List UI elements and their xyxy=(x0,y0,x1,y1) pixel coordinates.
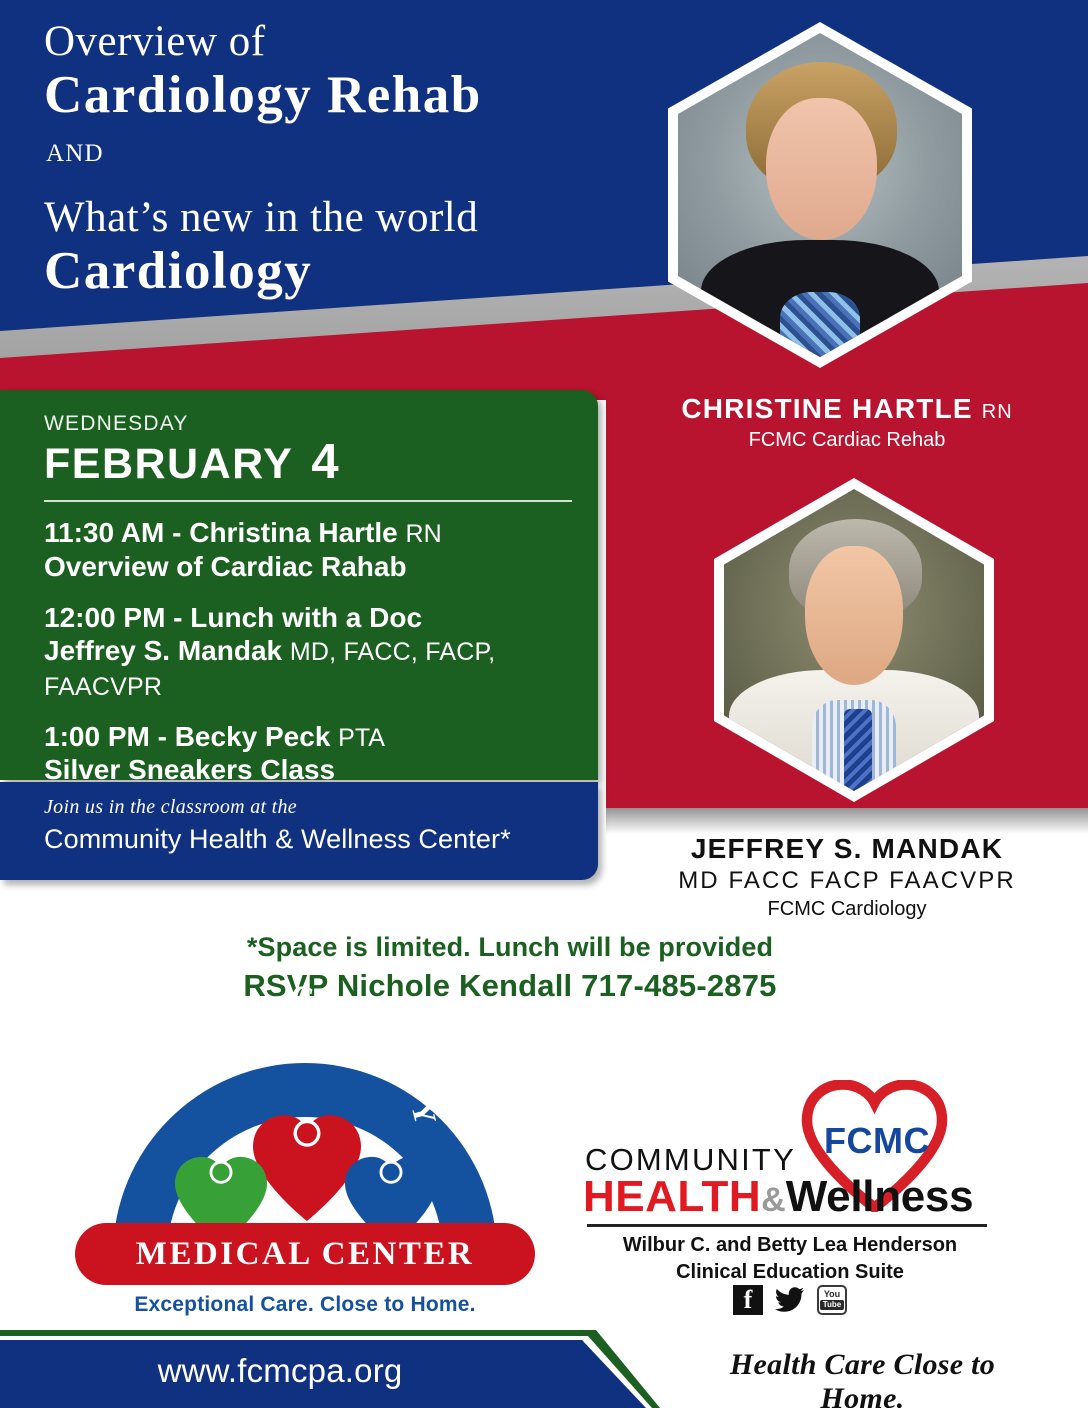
schedule-slot: 12:00 PM - Lunch with a Doc Jeffrey S. M… xyxy=(44,601,572,703)
speaker-suffix-1: RN xyxy=(982,401,1013,423)
red-panel-shadow xyxy=(606,808,1088,834)
fulton-county-medical-center-logo: FULTON COUNTY MEDICAL CENTER Excepti xyxy=(75,1055,535,1305)
schedule-month: FEBRUARY xyxy=(44,440,293,489)
schedule-slot: 1:00 PM - Becky Peck PTA Silver Sneakers… xyxy=(44,720,572,788)
location-venue: Community Health & Wellness Center* xyxy=(44,824,572,855)
title-line-2: Cardiology Rehab xyxy=(44,66,664,125)
title-line-4: Cardiology xyxy=(44,242,664,301)
slot-bold-text: 11:30 AM - Christina Hartle xyxy=(44,517,398,548)
location-box: Join us in the classroom at the Communit… xyxy=(0,782,598,880)
youtube-icon-top-text: You xyxy=(824,1290,840,1299)
arc-letter: N xyxy=(370,1031,412,1071)
logo-pill-bar: MEDICAL CENTER xyxy=(75,1223,535,1285)
speaker-department-2: FCMC Cardiology xyxy=(606,896,1088,923)
schedule-day-of-week: WEDNESDAY xyxy=(44,412,572,436)
chw-subtitle-line-2: Clinical Education Suite xyxy=(575,1259,1005,1286)
speaker-name-1-text: CHRISTINE HARTLE xyxy=(681,393,972,424)
speaker-photo-christine-hartle xyxy=(668,22,972,368)
schedule-day-number: 4 xyxy=(311,434,338,490)
arc-letter xyxy=(263,975,271,1011)
chw-word-row: HEALTH&Wellness xyxy=(583,1172,973,1222)
title-conjunction: AND xyxy=(46,140,664,168)
chw-heart-label: FCMC xyxy=(813,1120,941,1162)
chw-divider-rule xyxy=(587,1224,987,1227)
logo-hearts-group xyxy=(171,1113,441,1233)
arc-letter: U xyxy=(346,1005,386,1047)
social-icons-row: f You Tube xyxy=(575,1285,1005,1315)
rsvp-block: *Space is limited. Lunch will be provide… xyxy=(0,932,1020,1004)
slot-bold-text: Jeffrey S. Mandak xyxy=(44,635,282,666)
schedule-date-line: FEBRUARY 4 xyxy=(44,434,572,490)
speaker-caption-1: CHRISTINE HARTLE RN FCMC Cardiac Rehab xyxy=(606,392,1088,454)
chw-subtitle: Wilbur C. and Betty Lea Henderson Clinic… xyxy=(575,1232,1005,1286)
footer-website-url[interactable]: www.fcmcpa.org xyxy=(0,1352,560,1390)
schedule-slot-topic: Jeffrey S. Mandak MD, FACC, FACP, FAACVP… xyxy=(44,634,572,702)
schedule-slot: 11:30 AM - Christina Hartle RN Overview … xyxy=(44,516,572,584)
youtube-icon[interactable]: You Tube xyxy=(817,1285,847,1315)
flyer-page: Overview of Cardiology Rehab AND What’s … xyxy=(0,0,1088,1408)
rsvp-note: *Space is limited. Lunch will be provide… xyxy=(0,932,1020,963)
schedule-slot-topic: Overview of Cardiac Rahab xyxy=(44,550,572,584)
schedule-slot-time-speaker: 11:30 AM - Christina Hartle RN xyxy=(44,516,572,550)
speaker-photo-jeffrey-mandak xyxy=(714,478,994,802)
chw-subtitle-line-1: Wilbur C. and Betty Lea Henderson xyxy=(575,1232,1005,1259)
speaker-department-1: FCMC Cardiac Rehab xyxy=(606,427,1088,454)
arc-letter: U xyxy=(102,1062,144,1098)
slot-bold-text: Silver Sneakers Class xyxy=(44,754,335,785)
speaker-caption-2: JEFFREY S. MANDAK MD FACC FACP FAACVPR F… xyxy=(606,832,1088,923)
slot-bold-text: 12:00 PM - Lunch with a Doc xyxy=(44,602,422,633)
chw-word-health: HEALTH xyxy=(583,1172,761,1221)
community-health-wellness-logo: FCMC COMMUNITY HEALTH&Wellness Wilbur C.… xyxy=(575,1080,1015,1320)
schedule-divider xyxy=(44,500,572,502)
slot-light-text: RN xyxy=(406,520,442,548)
youtube-icon-bottom-text: Tube xyxy=(820,1300,845,1310)
portrait-tie xyxy=(844,709,873,791)
footer-tagline: Health Care Close to Home. xyxy=(690,1348,1035,1408)
title-line-3: What’s new in the world xyxy=(44,194,664,242)
location-intro: Join us in the classroom at the xyxy=(44,796,572,819)
chw-ampersand: & xyxy=(761,1181,786,1219)
speaker-name-1: CHRISTINE HARTLE RN xyxy=(606,392,1088,426)
slot-light-text: PTA xyxy=(338,724,385,752)
facebook-icon[interactable]: f xyxy=(733,1285,763,1315)
schedule-box: WEDNESDAY FEBRUARY 4 11:30 AM - Christin… xyxy=(0,390,598,780)
arc-letter: F xyxy=(91,1099,131,1127)
rsvp-contact: RSVP Nichole Kendall 717-485-2875 xyxy=(0,968,1020,1004)
chw-word-wellness: Wellness xyxy=(786,1172,974,1221)
arc-letter: T xyxy=(149,1006,187,1047)
slot-bold-text: 1:00 PM - Becky Peck xyxy=(44,721,330,752)
arc-letter: L xyxy=(122,1031,163,1070)
title-line-1: Overview of xyxy=(44,18,664,66)
speaker-credentials-2: MD FACC FACP FAACVPR xyxy=(606,866,1088,895)
slot-bold-text: Overview of Cardiac Rahab xyxy=(44,551,407,582)
speaker-name-2: JEFFREY S. MANDAK xyxy=(606,832,1088,866)
schedule-slot-time-speaker: 1:00 PM - Becky Peck PTA xyxy=(44,720,572,754)
schedule-slot-time-speaker: 12:00 PM - Lunch with a Doc xyxy=(44,601,572,635)
arc-letter: T xyxy=(390,1063,431,1098)
header-title-block: Overview of Cardiology Rehab AND What’s … xyxy=(44,18,664,301)
logo-tagline: Exceptional Care. Close to Home. xyxy=(75,1293,535,1317)
twitter-icon[interactable] xyxy=(775,1285,805,1315)
